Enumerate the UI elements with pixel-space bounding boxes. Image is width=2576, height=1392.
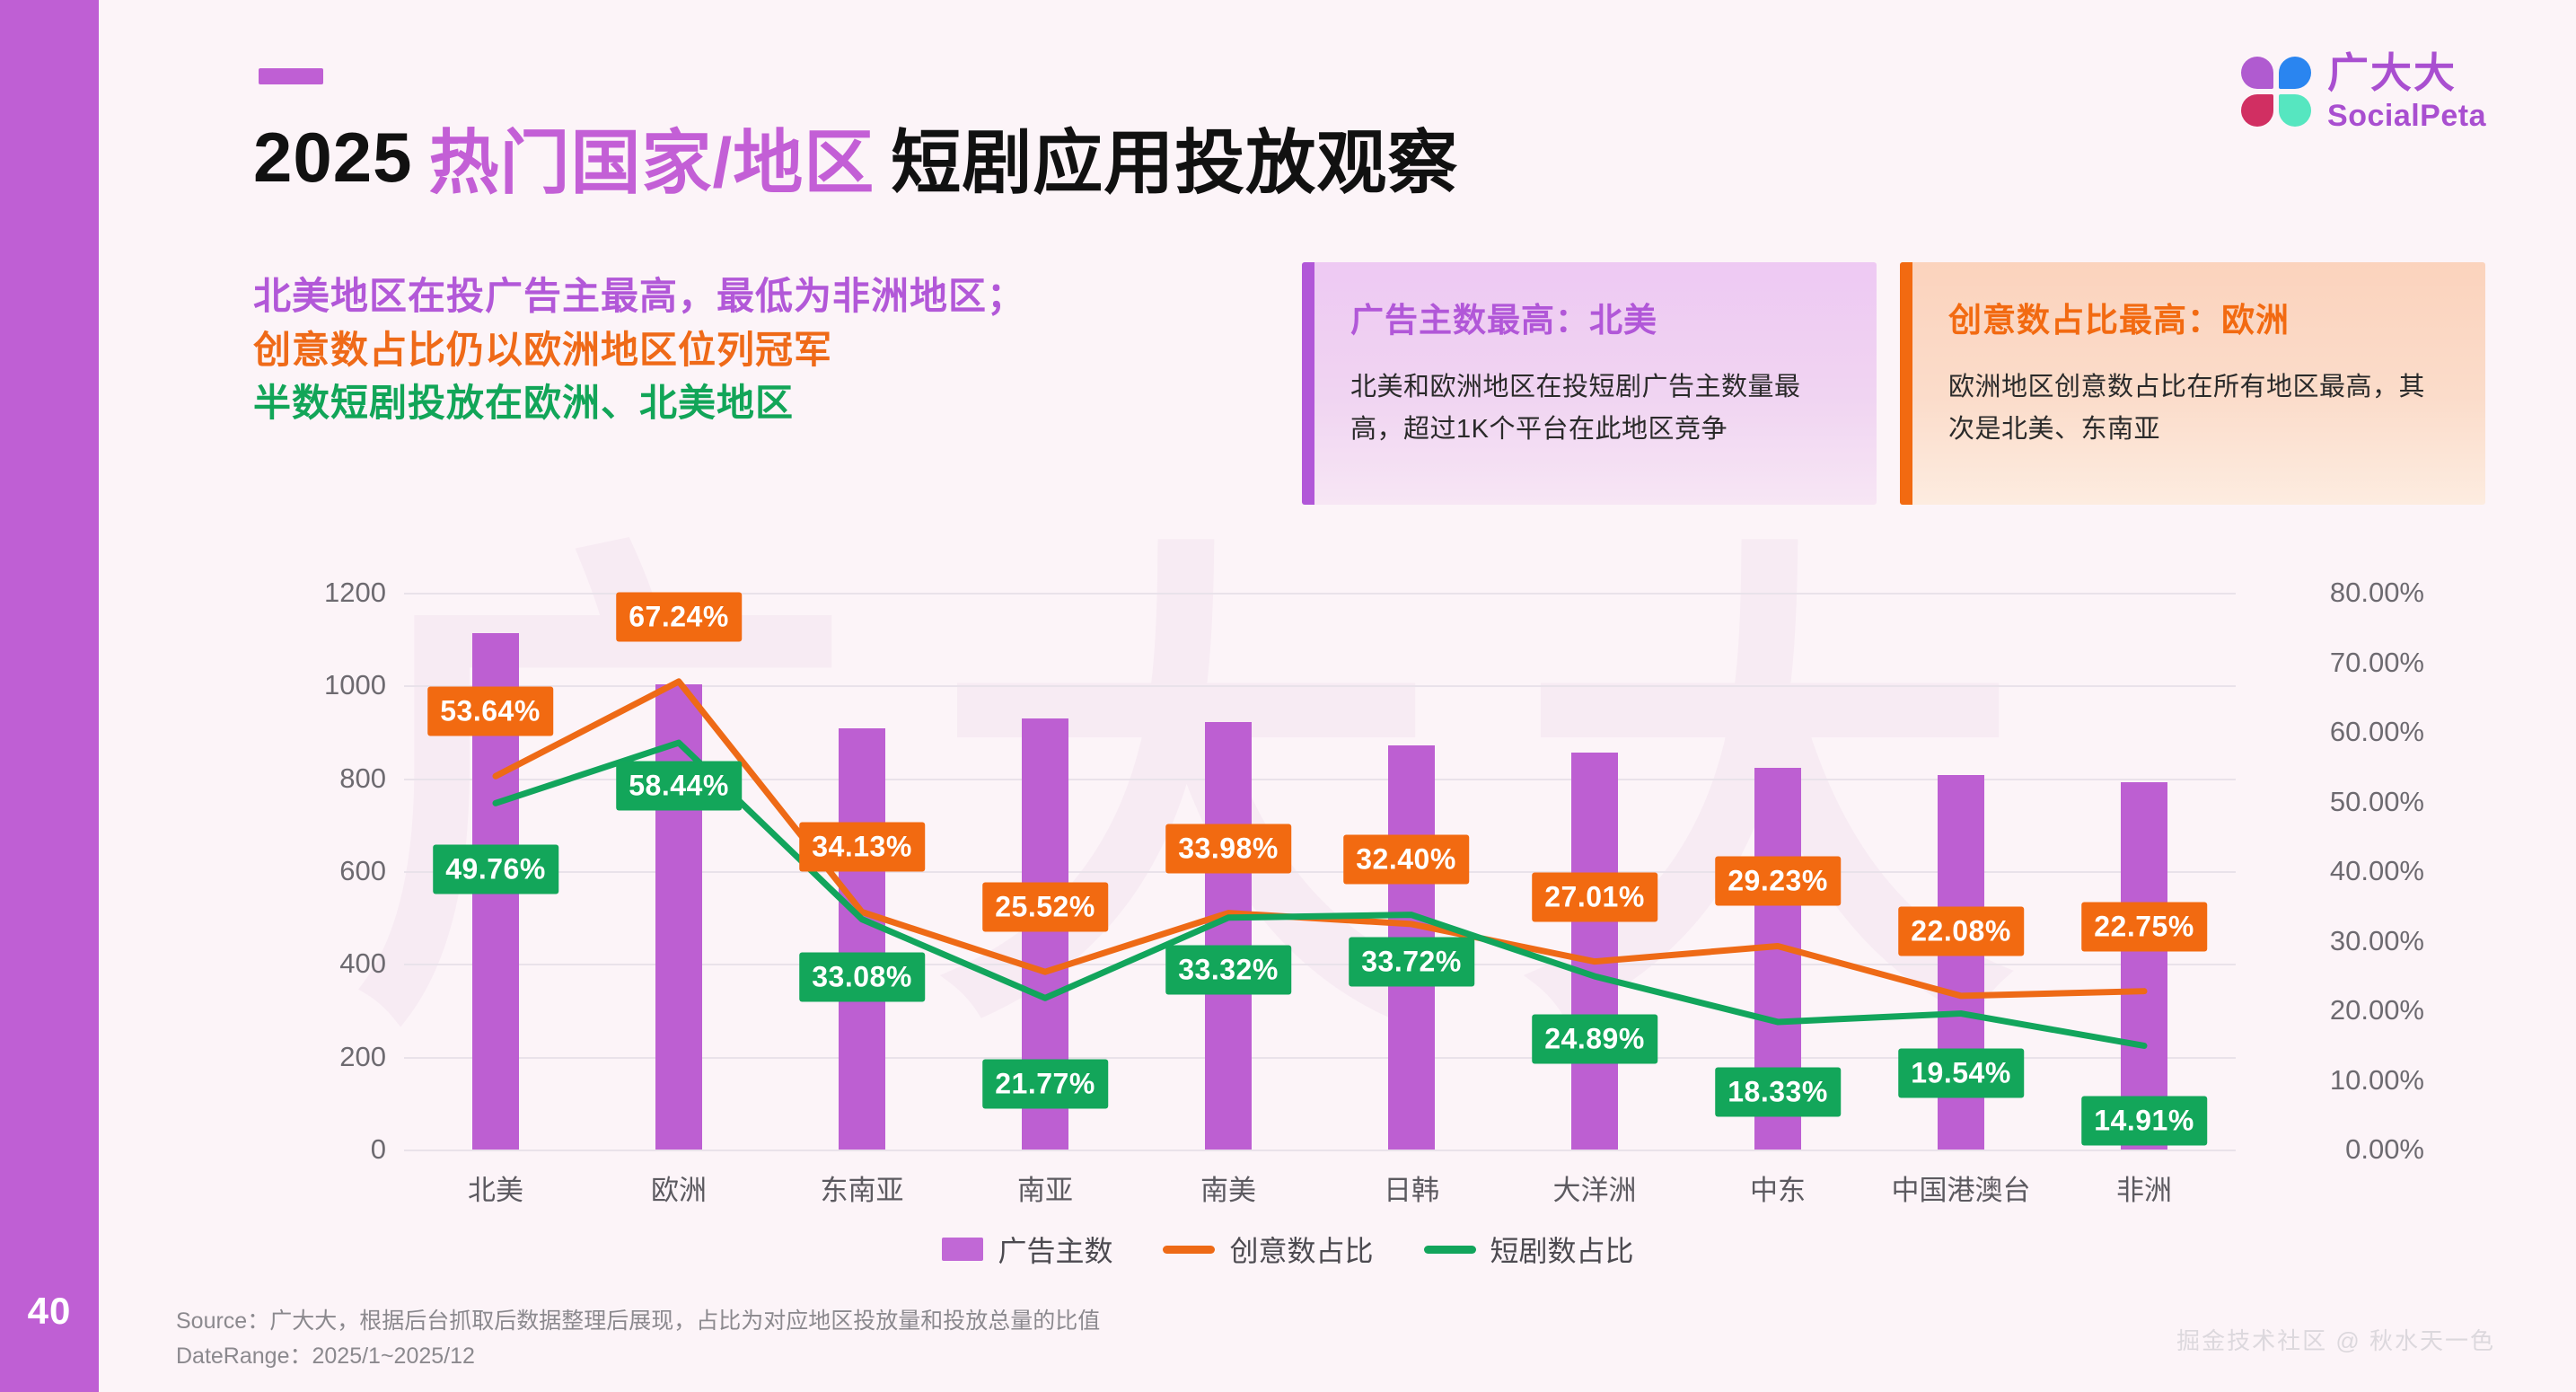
x-axis-label: 欧洲 — [651, 1167, 707, 1208]
data-label: 33.08% — [799, 952, 925, 1001]
data-label: 33.72% — [1349, 937, 1474, 986]
chart-line-drama-share — [496, 743, 2144, 1045]
data-label: 14.91% — [2081, 1097, 2207, 1146]
y-axis-left-tick: 200 — [251, 1041, 386, 1073]
x-axis-label: 北美 — [468, 1167, 523, 1208]
data-label: 49.76% — [433, 845, 558, 894]
title-rest: 短剧应用投放观察 — [891, 107, 1458, 207]
data-label: 21.77% — [982, 1060, 1108, 1109]
y-axis-right-tick: 80.00% — [2254, 577, 2424, 609]
y-axis-left-tick: 600 — [251, 855, 386, 887]
data-label: 19.54% — [1898, 1048, 2024, 1097]
legend-item-advertisers[interactable]: 广告主数 — [942, 1229, 1112, 1270]
insight-card-advertisers: 广告主数最高：北美 北美和欧洲地区在投短剧广告主数量最高，超过1K个平台在此地区… — [1302, 262, 1877, 505]
socialpeta-pinwheel-logo-icon — [2241, 57, 2311, 127]
title-accent-dash — [259, 68, 323, 84]
legend-label: 创意数占比 — [1229, 1229, 1373, 1270]
legend-line-swatch-icon — [1424, 1246, 1476, 1254]
source-line: Source：广大大，根据后台抓取后数据整理后展现，占比为对应地区投放量和投放总… — [176, 1304, 1100, 1339]
data-label: 53.64% — [427, 687, 553, 736]
y-axis-left-tick: 1000 — [251, 669, 386, 701]
data-label: 27.01% — [1532, 872, 1657, 921]
data-label: 58.44% — [616, 762, 742, 811]
data-label: 33.98% — [1165, 824, 1291, 873]
y-axis-left-tick: 1200 — [251, 577, 386, 609]
data-label: 22.75% — [2081, 902, 2207, 951]
x-axis-label: 南美 — [1200, 1167, 1256, 1208]
chart-legend: 广告主数 创意数占比 短剧数占比 — [0, 1229, 2576, 1270]
y-axis-right-tick: 50.00% — [2254, 786, 2424, 818]
y-axis-right-tick: 70.00% — [2254, 647, 2424, 679]
chart-plot-area: 53.64%67.24%34.13%25.52%33.98%32.40%27.0… — [404, 593, 2236, 1150]
x-axis-label: 南亚 — [1017, 1167, 1073, 1208]
logo-text-cn: 广大大 — [2327, 52, 2486, 93]
y-axis-left-tick: 400 — [251, 947, 386, 980]
x-axis-label: 日韩 — [1384, 1167, 1439, 1208]
socialpeta-logo: 广大大 SocialPeta — [2241, 52, 2486, 131]
credit-watermark: 掘金技术社区 @ 秋水天一色 — [2176, 1323, 2495, 1356]
left-purple-rail — [0, 0, 99, 1392]
x-axis-label: 东南亚 — [821, 1167, 904, 1208]
chart-line-creative-share — [496, 682, 2144, 996]
legend-line-swatch-icon — [1163, 1246, 1215, 1254]
data-label: 32.40% — [1343, 834, 1469, 884]
y-axis-right-tick: 0.00% — [2254, 1133, 2424, 1166]
x-axis-label: 中国港澳台 — [1892, 1167, 2031, 1208]
y-axis-left-tick: 0 — [251, 1133, 386, 1166]
y-axis-right-tick: 40.00% — [2254, 855, 2424, 887]
legend-label: 短剧数占比 — [1490, 1229, 1634, 1270]
data-label: 67.24% — [616, 592, 742, 641]
gridline — [404, 1150, 2236, 1151]
key-finding-2: 创意数占比仍以欧洲地区位列冠军 — [253, 323, 1250, 377]
card-accent-bar — [1302, 262, 1314, 505]
page-number: 40 — [0, 1290, 99, 1333]
y-axis-left-tick: 800 — [251, 762, 386, 795]
key-finding-3: 半数短剧投放在欧洲、北美地区 — [253, 376, 1250, 430]
x-axis-label: 中东 — [1750, 1167, 1806, 1208]
card-title: 广告主数最高：北美 — [1350, 293, 1841, 341]
data-label: 24.89% — [1532, 1015, 1657, 1064]
x-axis-label: 大洋洲 — [1553, 1167, 1637, 1208]
legend-bar-swatch-icon — [942, 1238, 983, 1261]
data-label: 33.32% — [1165, 945, 1291, 994]
title-highlight: 热门国家/地区 — [429, 107, 875, 207]
data-label: 25.52% — [982, 883, 1108, 932]
footer-source: Source：广大大，根据后台抓取后数据整理后展现，占比为对应地区投放量和投放总… — [176, 1304, 1100, 1374]
legend-item-creative-share[interactable]: 创意数占比 — [1163, 1229, 1373, 1270]
legend-label: 广告主数 — [998, 1229, 1112, 1270]
combo-chart: 53.64%67.24%34.13%25.52%33.98%32.40%27.0… — [251, 575, 2424, 1203]
y-axis-right-tick: 30.00% — [2254, 925, 2424, 957]
x-axis-label: 非洲 — [2116, 1167, 2172, 1208]
slide-canvas: 广大大 40 2025 热门国家/地区 短剧应用投放观察 广大大 SocialP… — [0, 0, 2576, 1392]
y-axis-right-tick: 20.00% — [2254, 994, 2424, 1026]
data-label: 34.13% — [799, 823, 925, 872]
key-finding-1: 北美地区在投广告主最高，最低为非洲地区； — [253, 269, 1250, 323]
date-range-line: DateRange：2025/1~2025/12 — [176, 1339, 1100, 1374]
y-axis-right-tick: 10.00% — [2254, 1064, 2424, 1097]
insight-card-creatives: 创意数占比最高：欧洲 欧洲地区创意数占比在所有地区最高，其次是北美、东南亚 — [1900, 262, 2485, 505]
key-findings-list: 北美地区在投广告主最高，最低为非洲地区； 创意数占比仍以欧洲地区位列冠军 半数短… — [253, 269, 1250, 430]
data-label: 22.08% — [1898, 906, 2024, 956]
logo-text-en: SocialPeta — [2327, 101, 2486, 131]
card-title: 创意数占比最高：欧洲 — [1948, 293, 2449, 341]
card-body: 北美和欧洲地区在投短剧广告主数量最高，超过1K个平台在此地区竞争 — [1350, 366, 1841, 451]
y-axis-right-tick: 60.00% — [2254, 716, 2424, 748]
card-body: 欧洲地区创意数占比在所有地区最高，其次是北美、东南亚 — [1948, 366, 2449, 451]
page-title: 2025 热门国家/地区 短剧应用投放观察 — [253, 108, 1458, 207]
data-label: 18.33% — [1715, 1067, 1841, 1116]
legend-item-drama-share[interactable]: 短剧数占比 — [1424, 1229, 1634, 1270]
data-label: 29.23% — [1715, 857, 1841, 906]
title-year: 2025 — [253, 117, 413, 198]
card-accent-bar — [1900, 262, 1912, 505]
